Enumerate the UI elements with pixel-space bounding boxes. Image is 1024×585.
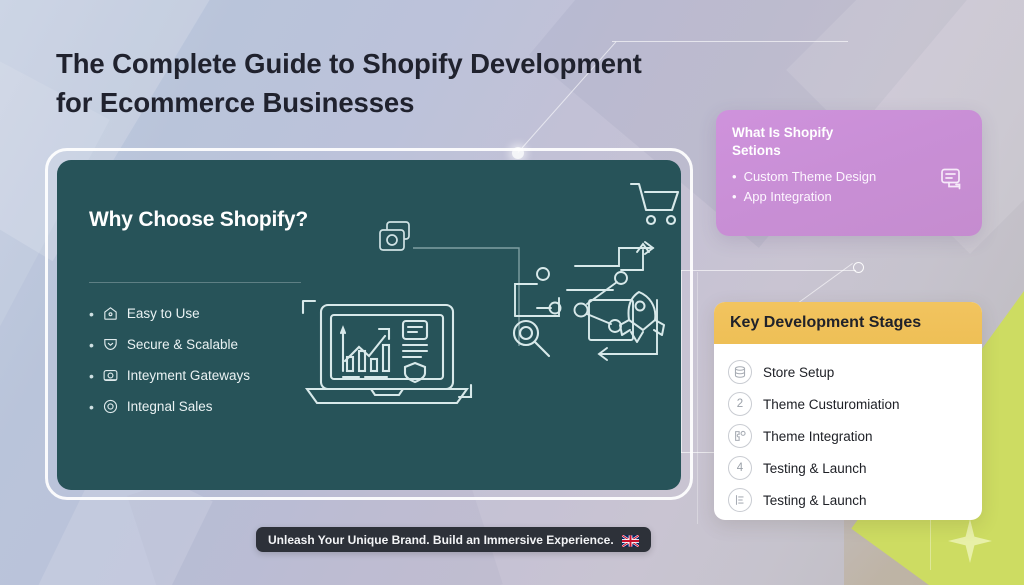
list-item[interactable]: • App Integration: [732, 189, 966, 204]
connector-dot-hollow[interactable]: [853, 262, 864, 273]
page-title: The Complete Guide to Shopify Developmen…: [56, 44, 736, 122]
stage-label: Testing & Launch: [763, 493, 867, 508]
bullet: •: [89, 338, 94, 352]
what-is-shopify-card[interactable]: What Is Shopify Setions • Custom Theme D…: [716, 110, 982, 236]
list-item[interactable]: 4 Testing & Launch: [728, 452, 982, 484]
list-item[interactable]: 2 Theme Custuromiation: [728, 388, 982, 420]
stage-label: Store Setup: [763, 365, 834, 380]
payment-icon: [102, 367, 119, 384]
list-item[interactable]: Theme Integration: [728, 420, 982, 452]
shopping-cart-icon: [627, 178, 681, 234]
database-icon: [728, 360, 752, 384]
list-item: • Inteyment Gateways: [89, 367, 250, 384]
home-icon: [102, 305, 119, 322]
stages-header-title: Key Development Stages: [730, 314, 921, 332]
banner-text: Unleash Your Unique Brand. Build an Imme…: [268, 533, 614, 547]
feature-label: Secure & Scalable: [127, 337, 238, 352]
connector-line: [697, 272, 698, 524]
rocket-icon: [609, 286, 665, 346]
feature-label: Integnal Sales: [127, 399, 213, 414]
target-icon: [102, 398, 119, 415]
feature-list: • Easy to Use • Secure & Scalable • Inte…: [89, 305, 250, 429]
pink-item-label: Custom Theme Design: [744, 169, 877, 184]
list-item: • Secure & Scalable: [89, 336, 250, 353]
bottom-banner: Unleash Your Unique Brand. Build an Imme…: [256, 527, 651, 552]
laptop-analytics-icon: [287, 285, 487, 425]
pink-item-label: App Integration: [744, 189, 832, 204]
stage-label: Theme Custuromiation: [763, 397, 900, 412]
bullet: •: [732, 170, 737, 183]
puzzle-icon: [728, 424, 752, 448]
page-title-line1: The Complete Guide to Shopify Developmen…: [56, 44, 736, 83]
feature-label: Inteyment Gateways: [127, 368, 250, 383]
list-item[interactable]: • Custom Theme Design: [732, 169, 966, 184]
stages-card-header: Key Development Stages: [714, 302, 982, 344]
list-item[interactable]: Testing & Launch: [728, 484, 982, 516]
number-2-icon: 2: [728, 392, 752, 416]
page-title-line2: for Ecommerce Businesses: [56, 83, 736, 122]
search-icon: [507, 314, 555, 362]
list-item: • Integnal Sales: [89, 398, 250, 415]
connector-line: [680, 270, 856, 271]
key-development-stages-card: Key Development Stages Store Setup 2 The…: [714, 302, 982, 520]
bullet: •: [732, 190, 737, 203]
stage-label: Testing & Launch: [763, 461, 867, 476]
bullet: •: [89, 400, 94, 414]
bullet: •: [89, 307, 94, 321]
slide-canvas: The Complete Guide to Shopify Developmen…: [0, 0, 1024, 585]
list-item[interactable]: Store Setup: [728, 356, 982, 388]
bullet: •: [89, 369, 94, 383]
number-4-icon: 4: [728, 456, 752, 480]
connector-line: [612, 41, 848, 42]
stages-list: Store Setup 2 Theme Custuromiation Theme…: [714, 344, 982, 516]
list-item: • Easy to Use: [89, 305, 250, 322]
pink-card-title: What Is Shopify Setions: [732, 124, 966, 160]
divider: [89, 282, 301, 283]
uk-flag-icon: [622, 534, 639, 546]
pink-card-list: • Custom Theme Design • App Integration: [732, 169, 966, 204]
list-icon: [728, 488, 752, 512]
shield-check-icon: [102, 336, 119, 353]
feature-label: Easy to Use: [127, 306, 200, 321]
why-choose-shopify-card: Why Choose Shopify? • Easy to Use • Secu…: [57, 160, 681, 490]
stage-label: Theme Integration: [763, 429, 873, 444]
card-heading: Why Choose Shopify?: [89, 208, 308, 232]
chat-bubble-icon[interactable]: [938, 166, 964, 197]
